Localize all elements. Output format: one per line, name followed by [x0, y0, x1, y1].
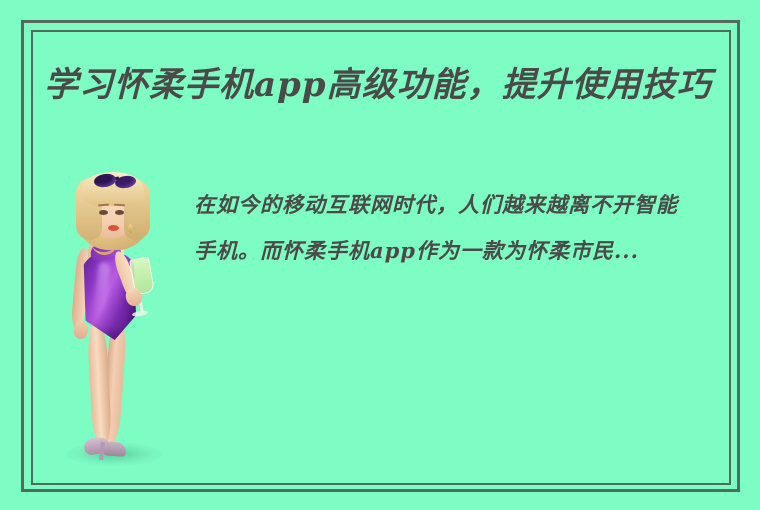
article-excerpt: 在如今的移动互联网时代，人们越来越离不开智能手机。而怀柔手机app作为一款为怀柔…: [194, 170, 699, 274]
eye-left: [99, 210, 108, 215]
woman-with-champagne-illustration: [44, 170, 194, 480]
eye-right: [115, 210, 124, 215]
page-title: 学习怀柔手机app高级功能，提升使用技巧: [44, 60, 734, 110]
content-area: 在如今的移动互联网时代，人们越来越离不开智能手机。而怀柔手机app作为一款为怀柔…: [44, 170, 734, 480]
hand-left: [73, 321, 90, 340]
leg-front: [87, 320, 113, 449]
lips: [108, 225, 119, 231]
poster-canvas: 学习怀柔手机app高级功能，提升使用技巧: [0, 0, 760, 510]
earring-icon: [128, 224, 133, 233]
